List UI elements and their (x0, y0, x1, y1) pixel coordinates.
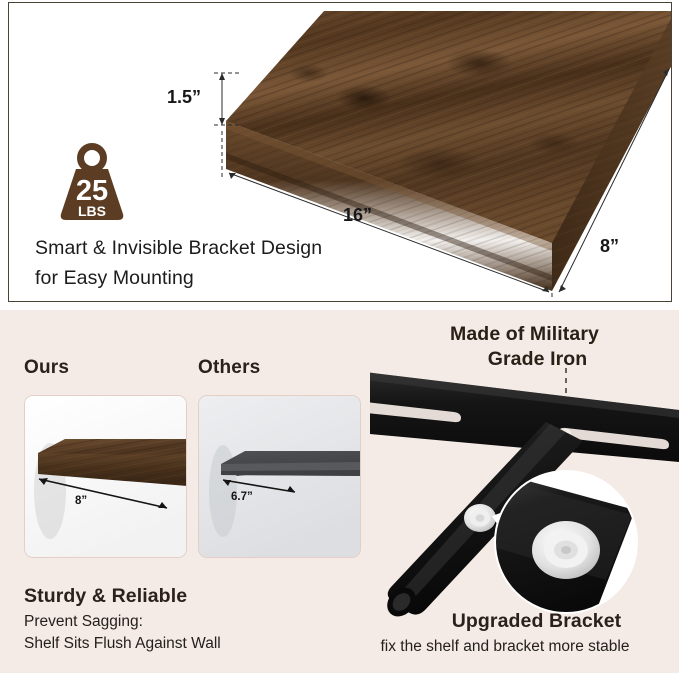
headline-line-1: Smart & Invisible Bracket Design (35, 233, 455, 263)
card-others: 6.7” (198, 395, 361, 558)
comparison-headings: Ours Others (24, 357, 364, 385)
card-ours: 8” (24, 395, 187, 558)
dimension-label-length: 16” (343, 205, 372, 226)
headline-line-2: for Easy Mounting (35, 263, 455, 293)
bottom-section: Ours Others (0, 310, 679, 673)
bracket-block: Made of Military Grade Iron (370, 310, 679, 673)
upgraded-bracket-subtitle: fix the shelf and bracket more stable (320, 638, 679, 656)
top-panel: 1.5” 16” 8” 25 LBS Smart & Invisible Bra… (8, 2, 672, 302)
headline: Smart & Invisible Bracket Design for Eas… (35, 233, 455, 293)
weight-badge-icon: 25 LBS (53, 142, 131, 224)
dimension-label-depth: 8” (600, 236, 619, 257)
comparison-block: Ours Others (24, 357, 364, 560)
ours-dimension-label: 8” (75, 495, 87, 507)
bracket-rod (381, 422, 583, 622)
set-screw-small (464, 504, 496, 532)
sturdy-line-1: Prevent Sagging: (24, 611, 364, 633)
sturdy-subtitle: Prevent Sagging: Shelf Sits Flush Agains… (24, 611, 364, 654)
label-ours: Ours (24, 357, 69, 379)
sturdy-block: Sturdy & Reliable Prevent Sagging: Shelf… (24, 583, 364, 654)
sturdy-line-2: Shelf Sits Flush Against Wall (24, 633, 364, 655)
sturdy-title: Sturdy & Reliable (24, 583, 364, 609)
bracket-plate (370, 368, 679, 462)
iron-title-line-1: Made of Military (450, 323, 599, 345)
shelf-top-face (226, 11, 672, 243)
iron-title: Made of Military Grade Iron (370, 322, 679, 372)
iron-title-line-2: Grade Iron (370, 347, 679, 372)
comparison-cards: 8” (24, 395, 364, 560)
upgraded-bracket-title: Upgraded Bracket (370, 610, 679, 633)
label-others: Others (198, 357, 260, 379)
dimension-label-thickness: 1.5” (167, 87, 201, 108)
others-dimension-label: 6.7” (231, 491, 253, 503)
weight-unit: LBS (78, 203, 106, 219)
